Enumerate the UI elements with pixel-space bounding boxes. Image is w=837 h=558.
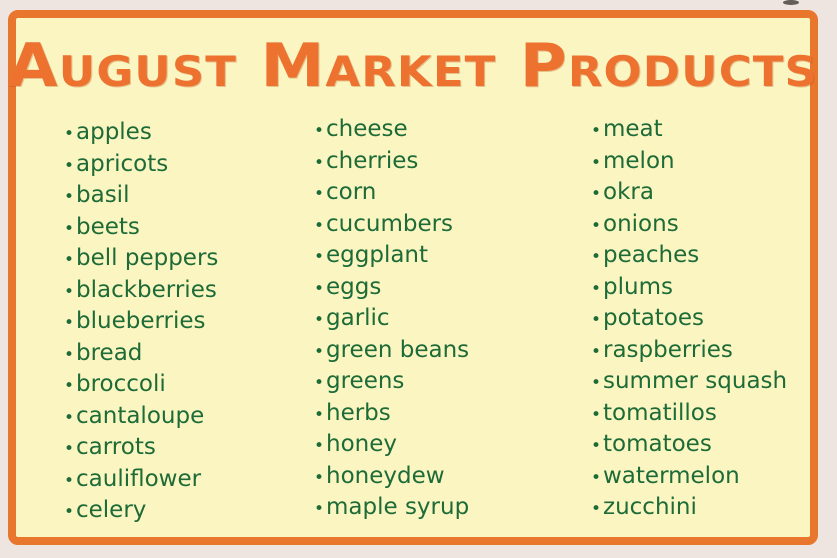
list-item-label: honeydew bbox=[326, 461, 445, 493]
bullet-icon: • bbox=[64, 151, 76, 183]
bullet-icon: • bbox=[314, 179, 326, 211]
list-item: •honey bbox=[314, 429, 582, 461]
bullet-icon: • bbox=[64, 403, 76, 435]
list-item: •peaches bbox=[591, 240, 837, 272]
list-item: •zucchini bbox=[591, 492, 837, 524]
bullet-icon: • bbox=[591, 274, 603, 306]
list-item: •maple syrup bbox=[314, 492, 582, 524]
market-products-poster: August Market Products •apples•apricots•… bbox=[8, 10, 818, 545]
list-item: •tomatoes bbox=[591, 429, 837, 461]
product-column-2: •cheese•cherries•corn•cucumbers•eggplant… bbox=[304, 114, 582, 527]
list-item: •apricots bbox=[64, 149, 304, 181]
bullet-icon: • bbox=[64, 308, 76, 340]
list-item-label: zucchini bbox=[603, 492, 697, 524]
list-item: •garlic bbox=[314, 303, 582, 335]
bullet-icon: • bbox=[64, 214, 76, 246]
list-item-label: apples bbox=[76, 117, 152, 149]
top-edge-artifact bbox=[783, 0, 799, 5]
list-item: •watermelon bbox=[591, 461, 837, 493]
list-item: •bell peppers bbox=[64, 243, 304, 275]
list-item-label: plums bbox=[603, 272, 673, 304]
bullet-icon: • bbox=[314, 242, 326, 274]
list-item-label: okra bbox=[603, 177, 654, 209]
list-item: •cauliflower bbox=[64, 464, 304, 496]
list-item-label: beets bbox=[76, 212, 140, 244]
list-item-label: cucumbers bbox=[326, 209, 453, 241]
list-item-label: garlic bbox=[326, 303, 390, 335]
list-item: •melon bbox=[591, 146, 837, 178]
list-item: •apples bbox=[64, 117, 304, 149]
bullet-icon: • bbox=[64, 340, 76, 372]
page-title: August Market Products bbox=[0, 36, 837, 96]
list-item-label: broccoli bbox=[76, 369, 166, 401]
list-item-label: honey bbox=[326, 429, 397, 461]
list-item: •basil bbox=[64, 180, 304, 212]
list-item-label: herbs bbox=[326, 398, 391, 430]
list-item-label: basil bbox=[76, 180, 129, 212]
list-item-label: bread bbox=[76, 338, 142, 370]
list-item-label: maple syrup bbox=[326, 492, 469, 524]
list-item: •potatoes bbox=[591, 303, 837, 335]
list-item: •tomatillos bbox=[591, 398, 837, 430]
bullet-icon: • bbox=[591, 305, 603, 337]
bullet-icon: • bbox=[591, 494, 603, 526]
bullet-icon: • bbox=[314, 148, 326, 180]
bullet-icon: • bbox=[591, 463, 603, 495]
bullet-icon: • bbox=[591, 242, 603, 274]
bullet-icon: • bbox=[591, 400, 603, 432]
list-item-label: potatoes bbox=[603, 303, 704, 335]
bullet-icon: • bbox=[64, 182, 76, 214]
list-item-label: cauliflower bbox=[76, 464, 201, 496]
list-item: •broccoli bbox=[64, 369, 304, 401]
bullet-icon: • bbox=[591, 179, 603, 211]
list-item-label: onions bbox=[603, 209, 679, 241]
bullet-icon: • bbox=[314, 431, 326, 463]
list-item-label: corn bbox=[326, 177, 376, 209]
bullet-icon: • bbox=[314, 274, 326, 306]
list-item-label: eggs bbox=[326, 272, 381, 304]
bullet-icon: • bbox=[314, 305, 326, 337]
list-item-label: cheese bbox=[326, 114, 408, 146]
bullet-icon: • bbox=[314, 368, 326, 400]
bullet-icon: • bbox=[314, 211, 326, 243]
product-columns: •apples•apricots•basil•beets•bell pepper… bbox=[16, 114, 810, 527]
list-item: •eggs bbox=[314, 272, 582, 304]
list-item-label: cherries bbox=[326, 146, 418, 178]
list-item: •beets bbox=[64, 212, 304, 244]
list-item: •cucumbers bbox=[314, 209, 582, 241]
list-item-label: greens bbox=[326, 366, 404, 398]
list-item-label: celery bbox=[76, 495, 146, 527]
list-item-label: eggplant bbox=[326, 240, 428, 272]
bullet-icon: • bbox=[591, 116, 603, 148]
list-item-label: cantaloupe bbox=[76, 401, 204, 433]
list-item: •blackberries bbox=[64, 275, 304, 307]
bullet-icon: • bbox=[314, 463, 326, 495]
list-item: •plums bbox=[591, 272, 837, 304]
bullet-icon: • bbox=[64, 434, 76, 466]
list-item-label: blueberries bbox=[76, 306, 206, 338]
bullet-icon: • bbox=[591, 148, 603, 180]
list-item-label: tomatillos bbox=[603, 398, 717, 430]
list-item: •cheese bbox=[314, 114, 582, 146]
list-item: •green beans bbox=[314, 335, 582, 367]
list-item: •blueberries bbox=[64, 306, 304, 338]
bullet-icon: • bbox=[64, 119, 76, 151]
list-item-label: bell peppers bbox=[76, 243, 218, 275]
list-item-label: green beans bbox=[326, 335, 469, 367]
list-item: •greens bbox=[314, 366, 582, 398]
bullet-icon: • bbox=[591, 337, 603, 369]
list-item-label: melon bbox=[603, 146, 675, 178]
list-item: •meat bbox=[591, 114, 837, 146]
bullet-icon: • bbox=[314, 400, 326, 432]
bullet-icon: • bbox=[591, 211, 603, 243]
list-item-label: apricots bbox=[76, 149, 168, 181]
list-item: •herbs bbox=[314, 398, 582, 430]
list-item: •carrots bbox=[64, 432, 304, 464]
list-item: •celery bbox=[64, 495, 304, 527]
list-item-label: raspberries bbox=[603, 335, 733, 367]
list-item: •onions bbox=[591, 209, 837, 241]
list-item: •honeydew bbox=[314, 461, 582, 493]
bullet-icon: • bbox=[64, 245, 76, 277]
list-item-label: carrots bbox=[76, 432, 156, 464]
product-column-3: •meat•melon•okra•onions•peaches•plums•po… bbox=[582, 114, 837, 527]
list-item-label: blackberries bbox=[76, 275, 217, 307]
list-item: •okra bbox=[591, 177, 837, 209]
bullet-icon: • bbox=[314, 494, 326, 526]
list-item: •summer squash bbox=[591, 366, 837, 398]
list-item: •raspberries bbox=[591, 335, 837, 367]
bullet-icon: • bbox=[64, 277, 76, 309]
list-item-label: meat bbox=[603, 114, 663, 146]
bullet-icon: • bbox=[64, 497, 76, 529]
list-item: •cherries bbox=[314, 146, 582, 178]
product-column-1: •apples•apricots•basil•beets•bell pepper… bbox=[16, 114, 304, 527]
list-item: •cantaloupe bbox=[64, 401, 304, 433]
bullet-icon: • bbox=[64, 371, 76, 403]
bullet-icon: • bbox=[591, 368, 603, 400]
list-item: •bread bbox=[64, 338, 304, 370]
list-item-label: tomatoes bbox=[603, 429, 712, 461]
list-item-label: peaches bbox=[603, 240, 699, 272]
list-item: •corn bbox=[314, 177, 582, 209]
bullet-icon: • bbox=[64, 466, 76, 498]
bullet-icon: • bbox=[591, 431, 603, 463]
list-item: •eggplant bbox=[314, 240, 582, 272]
list-item-label: summer squash bbox=[603, 366, 787, 398]
bullet-icon: • bbox=[314, 337, 326, 369]
bullet-icon: • bbox=[314, 116, 326, 148]
list-item-label: watermelon bbox=[603, 461, 740, 493]
